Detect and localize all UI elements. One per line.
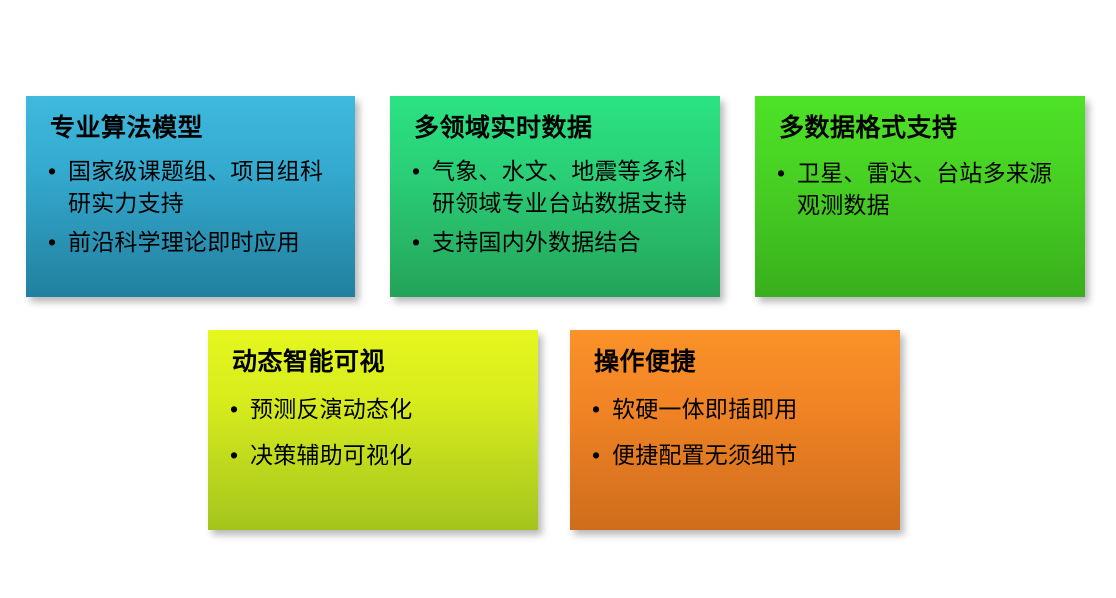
feature-card-1-bullet-1-text: 国家级课题组、项目组科研实力支持 bbox=[68, 158, 323, 217]
feature-card-2-bullet-1-text: 气象、水文、地震等多科研领域专业台站数据支持 bbox=[432, 158, 687, 217]
feature-card-2-bullet-list: • 气象、水文、地震等多科研领域专业台站数据支持 • 支持国内外数据结合 bbox=[408, 155, 704, 259]
feature-card-4-bullet-1: • 预测反演动态化 bbox=[226, 393, 522, 426]
feature-card-4-bullet-2: • 决策辅助可视化 bbox=[226, 439, 522, 472]
feature-card-2-title: 多领域实时数据 bbox=[414, 114, 704, 143]
feature-card-4-title: 动态智能可视 bbox=[232, 348, 522, 377]
bullet-point-icon: • bbox=[230, 393, 238, 426]
feature-card-2[interactable]: 多领域实时数据 • 气象、水文、地震等多科研领域专业台站数据支持 • 支持国内外… bbox=[390, 96, 720, 297]
feature-card-2-bullet-2-text: 支持国内外数据结合 bbox=[432, 229, 641, 255]
feature-card-3-bullet-list: • 卫星、雷达、台站多来源观测数据 bbox=[773, 157, 1069, 222]
bullet-point-icon: • bbox=[412, 155, 420, 188]
feature-card-3[interactable]: 多数据格式支持 • 卫星、雷达、台站多来源观测数据 bbox=[755, 96, 1085, 297]
feature-card-2-bullet-1: • 气象、水文、地震等多科研领域专业台站数据支持 bbox=[408, 155, 704, 220]
feature-card-5-bullet-2: • 便捷配置无须细节 bbox=[588, 439, 884, 472]
feature-card-1-bullet-2: • 前沿科学理论即时应用 bbox=[44, 226, 339, 259]
feature-card-4-bullet-1-text: 预测反演动态化 bbox=[250, 396, 412, 422]
feature-card-1-bullet-1: • 国家级课题组、项目组科研实力支持 bbox=[44, 155, 339, 220]
bullet-point-icon: • bbox=[230, 439, 238, 472]
feature-card-4-bullet-list: • 预测反演动态化 • 决策辅助可视化 bbox=[226, 393, 522, 472]
slide-canvas: 专业算法模型 • 国家级课题组、项目组科研实力支持 • 前沿科学理论即时应用 多… bbox=[0, 0, 1116, 598]
bullet-point-icon: • bbox=[592, 393, 600, 426]
feature-card-3-bullet-1: • 卫星、雷达、台站多来源观测数据 bbox=[773, 157, 1069, 222]
bullet-point-icon: • bbox=[777, 157, 785, 190]
feature-card-4[interactable]: 动态智能可视 • 预测反演动态化 • 决策辅助可视化 bbox=[208, 330, 538, 530]
feature-card-1-bullet-list: • 国家级课题组、项目组科研实力支持 • 前沿科学理论即时应用 bbox=[44, 155, 339, 259]
feature-card-1-title: 专业算法模型 bbox=[50, 114, 339, 143]
feature-card-5-bullet-list: • 软硬一体即插即用 • 便捷配置无须细节 bbox=[588, 393, 884, 472]
bullet-point-icon: • bbox=[48, 155, 56, 188]
feature-card-5-title: 操作便捷 bbox=[594, 348, 884, 377]
feature-card-4-bullet-2-text: 决策辅助可视化 bbox=[250, 442, 412, 468]
feature-card-3-title: 多数据格式支持 bbox=[779, 114, 1069, 143]
feature-card-3-bullet-1-text: 卫星、雷达、台站多来源观测数据 bbox=[797, 160, 1052, 219]
feature-card-1-bullet-2-text: 前沿科学理论即时应用 bbox=[68, 229, 300, 255]
bullet-point-icon: • bbox=[412, 226, 420, 259]
feature-card-5[interactable]: 操作便捷 • 软硬一体即插即用 • 便捷配置无须细节 bbox=[570, 330, 900, 530]
bullet-point-icon: • bbox=[48, 226, 56, 259]
feature-card-2-bullet-2: • 支持国内外数据结合 bbox=[408, 226, 704, 259]
bullet-point-icon: • bbox=[592, 439, 600, 472]
feature-card-1[interactable]: 专业算法模型 • 国家级课题组、项目组科研实力支持 • 前沿科学理论即时应用 bbox=[26, 96, 355, 297]
feature-card-5-bullet-1: • 软硬一体即插即用 bbox=[588, 393, 884, 426]
feature-card-5-bullet-2-text: 便捷配置无须细节 bbox=[612, 442, 798, 468]
feature-card-5-bullet-1-text: 软硬一体即插即用 bbox=[612, 396, 798, 422]
